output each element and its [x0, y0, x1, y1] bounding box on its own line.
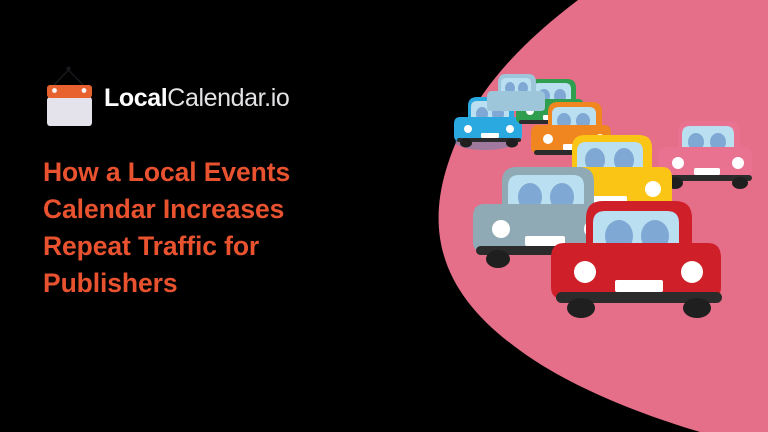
car-pink	[658, 121, 752, 189]
traffic-jam-cars-illustration	[430, 70, 768, 330]
brand-wordmark: LocalCalendar.io	[104, 86, 289, 111]
page-title: How a Local Events Calendar Increases Re…	[43, 130, 343, 302]
headline-line-3: Repeat Traffic for	[43, 228, 343, 265]
hero-banner: LocalCalendar.io How a Local Events Cale…	[0, 0, 768, 432]
brand-name-strong: Local	[104, 84, 167, 112]
brand-logo[interactable]: LocalCalendar.io	[43, 62, 383, 130]
headline-line-1: How a Local Events	[43, 154, 343, 191]
brand-name-light: Calendar.io	[167, 84, 289, 112]
hero-content: LocalCalendar.io How a Local Events Cale…	[43, 62, 383, 302]
headline-line-4: Publishers	[43, 265, 343, 302]
headline-line-2: Calendar Increases	[43, 191, 343, 228]
calendar-icon	[43, 64, 95, 128]
